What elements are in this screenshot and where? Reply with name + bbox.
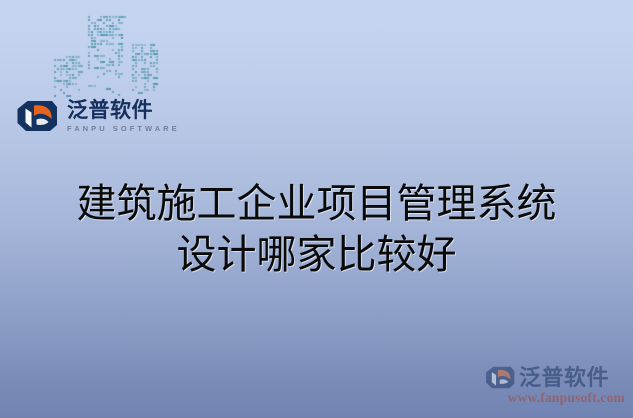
brand-name-en: FANPU SOFTWARE [67,125,180,133]
watermark-url: www.fanpusoft.com [485,390,625,406]
fanpu-hexagon-logo-icon [16,100,58,132]
brand-lockup: 泛普软件 FANPU SOFTWARE [16,99,180,133]
promo-banner: 泛普软件 FANPU SOFTWARE 建筑施工企业项目管理系统 设计哪家比较好… [0,0,633,418]
brand-text-block: 泛普软件 FANPU SOFTWARE [67,99,180,133]
pixel-building-skyline-icon [44,6,170,98]
brand-name-cn: 泛普软件 [67,100,180,121]
watermark-logo-row: 泛普软件 [485,366,625,389]
watermark-name-cn: 泛普软件 [519,367,609,389]
watermark: 泛普软件 www.fanpusoft.com [485,366,625,406]
skyline-canvas [44,6,170,98]
page-title-line-2: 设计哪家比较好 [0,229,633,280]
fanpu-hexagon-logo-watermark-icon [485,366,515,389]
page-title: 建筑施工企业项目管理系统 设计哪家比较好 [0,178,633,280]
page-title-line-1: 建筑施工企业项目管理系统 [0,178,633,229]
